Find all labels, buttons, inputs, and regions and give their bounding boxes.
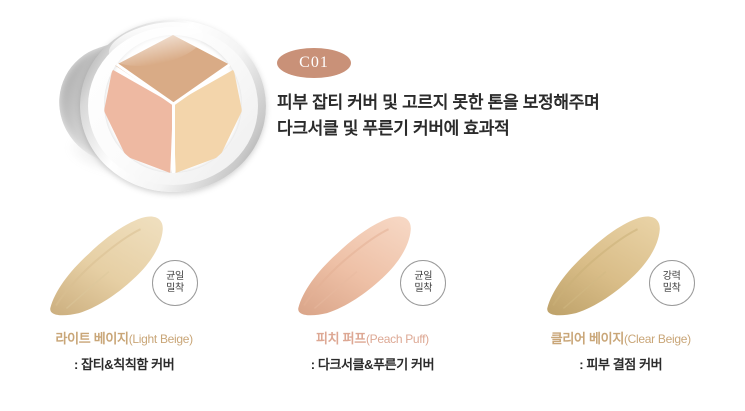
- shade-name: 라이트 베이지(Light Beige): [0, 328, 248, 347]
- shade-name: 피치 퍼프(Peach Puff): [248, 328, 496, 347]
- headline-block: C01 피부 잡티 커버 및 고르지 못한 톤을 보정해주며 다크서클 및 푸른…: [277, 48, 707, 142]
- product-description: 피부 잡티 커버 및 고르지 못한 톤을 보정해주며 다크서클 및 푸른기 커버…: [277, 90, 707, 142]
- pan-divider-vertical: [172, 104, 175, 173]
- feature-badge-line-2: 밀착: [414, 283, 432, 296]
- shade-note: : 잡티&칙칙함 커버: [0, 354, 248, 373]
- shade-name-en: (Peach Puff): [366, 332, 429, 346]
- feature-badge-line-2: 밀착: [166, 283, 184, 296]
- shade-code-badge: C01: [277, 48, 351, 78]
- shade-name-ko: 클리어 베이지: [551, 331, 624, 346]
- feature-badge-line-2: 밀착: [663, 283, 681, 296]
- shade-list: 균일 밀착 라이트 베이지(Light Beige) : 잡티&칙칙함 커버: [0, 210, 745, 405]
- description-line-1: 피부 잡티 커버 및 고르지 못한 톤을 보정해주며: [277, 90, 707, 116]
- feature-badge-line-1: 균일: [414, 271, 432, 284]
- shade-item-clear-beige: 강력 밀착 클리어 베이지(Clear Beige) : 피부 결점 커버: [497, 210, 745, 405]
- swatch-area: 균일 밀착: [0, 210, 248, 320]
- shade-item-light-beige: 균일 밀착 라이트 베이지(Light Beige) : 잡티&칙칙함 커버: [0, 210, 248, 405]
- shade-note: : 다크서클&푸른기 커버: [248, 354, 496, 373]
- product-compact-image: [38, 6, 278, 206]
- swatch-smear: [37, 210, 174, 319]
- feature-badge: 강력 밀착: [649, 260, 695, 306]
- swatch-area: 균일 밀착: [248, 210, 496, 320]
- description-line-2: 다크서클 및 푸른기 커버에 효과적: [277, 116, 707, 142]
- product-detail-page: C01 피부 잡티 커버 및 고르지 못한 톤을 보정해주며 다크서클 및 푸른…: [0, 0, 745, 411]
- feature-badge: 균일 밀착: [400, 260, 446, 306]
- swatch-area: 강력 밀착: [497, 210, 745, 320]
- swatch-smear: [286, 210, 423, 319]
- shade-name-ko: 피치 퍼프: [316, 331, 366, 346]
- shade-name-ko: 라이트 베이지: [55, 331, 128, 346]
- shade-note: : 피부 결점 커버: [497, 354, 745, 373]
- feature-badge-line-1: 강력: [663, 271, 681, 284]
- shade-item-peach-puff: 균일 밀착 피치 퍼프(Peach Puff) : 다크서클&푸른기 커버: [248, 210, 496, 405]
- shade-name: 클리어 베이지(Clear Beige): [497, 328, 745, 347]
- shade-name-en: (Clear Beige): [624, 332, 691, 346]
- concealer-pan: [104, 35, 242, 173]
- swatch-smear: [534, 210, 671, 319]
- shade-name-en: (Light Beige): [129, 332, 193, 346]
- feature-badge: 균일 밀착: [152, 260, 198, 306]
- feature-badge-line-1: 균일: [166, 271, 184, 284]
